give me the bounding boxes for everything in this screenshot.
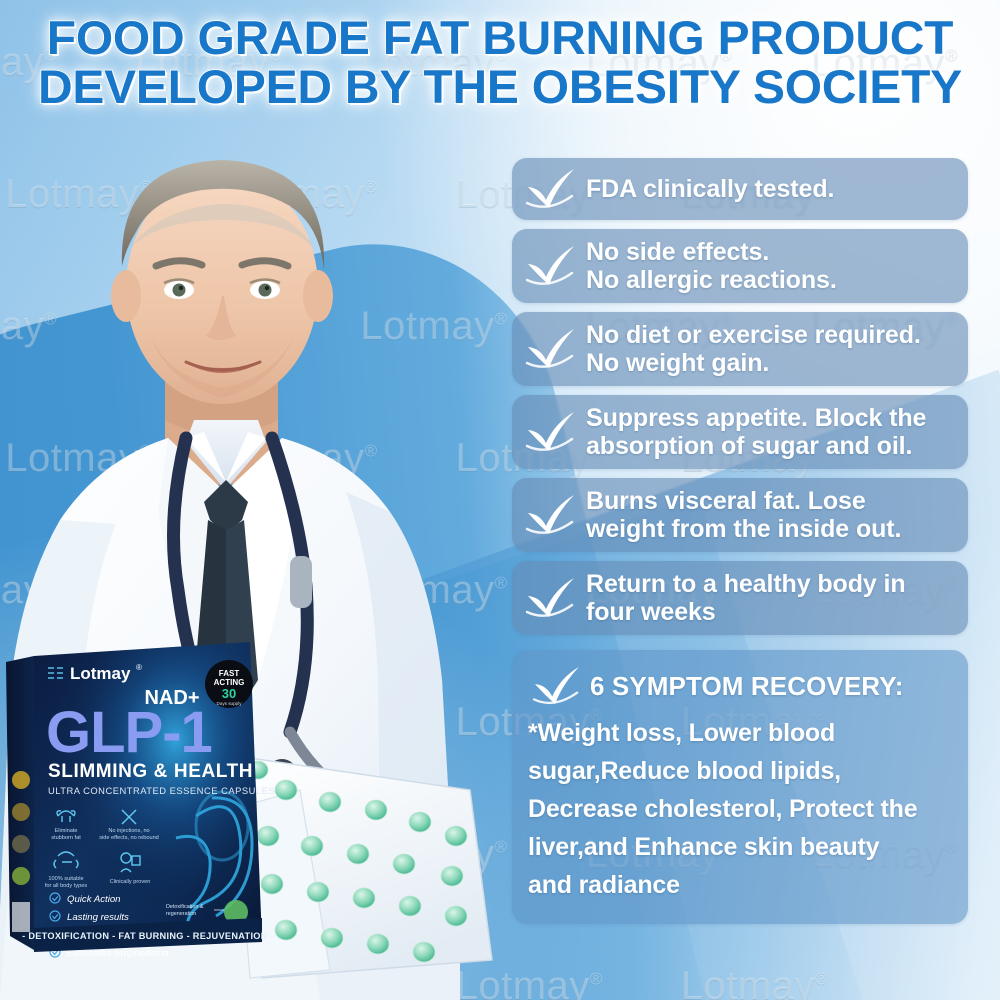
feature-panel: No side effects. No allergic reactions.	[512, 229, 968, 303]
feature-panel: Return to a healthy body in four weeks	[512, 561, 968, 635]
feature-panel-list: FDA clinically tested. No side effects. …	[512, 158, 968, 924]
feature-text: Burns visceral fat. Lose weight from the…	[586, 487, 901, 543]
recovery-line: and radiance	[528, 866, 952, 904]
recovery-body: *Weight loss, Lower blood sugar,Reduce b…	[528, 714, 952, 904]
symptom-recovery-panel: 6 SYMPTOM RECOVERY: *Weight loss, Lower …	[512, 650, 968, 924]
feature-panel: Suppress appetite. Block the absorption …	[512, 395, 968, 469]
recovery-title: 6 SYMPTOM RECOVERY:	[590, 671, 903, 702]
recovery-header: 6 SYMPTOM RECOVERY:	[528, 664, 952, 708]
recovery-line: *Weight loss, Lower blood	[528, 714, 952, 752]
feature-panel: No diet or exercise required. No weight …	[512, 312, 968, 386]
feature-text: Suppress appetite. Block the absorption …	[586, 404, 926, 460]
fast-acting-badge: FAST ACTING 30 Days supply	[205, 660, 253, 708]
feature-text: FDA clinically tested.	[586, 175, 834, 203]
feature-text: No side effects. No allergic reactions.	[586, 238, 837, 294]
feature-panel: FDA clinically tested.	[512, 158, 968, 220]
watermark-text: Lotmay®	[681, 964, 828, 1000]
checkmark-icon	[522, 326, 580, 372]
advertisement-canvas: FAST ACTING 30 Days supply Lotmay ® NAD+…	[0, 0, 1000, 1000]
recovery-line: sugar,Reduce blood lipids,	[528, 752, 952, 790]
recovery-line: liver,and Enhance skin beauty	[528, 828, 952, 866]
checkmark-icon	[522, 166, 580, 212]
checkmark-icon	[522, 575, 580, 621]
headline-line-1: FOOD GRADE FAT BURNING PRODUCT	[0, 14, 1000, 63]
feature-text: No diet or exercise required. No weight …	[586, 321, 921, 377]
blister-pack	[235, 758, 492, 978]
feature-text: Return to a healthy body in four weeks	[586, 570, 906, 626]
feature-panel: Burns visceral fat. Lose weight from the…	[512, 478, 968, 552]
checkmark-icon	[522, 492, 580, 538]
recovery-line: Decrease cholesterol, Protect the	[528, 790, 952, 828]
page-title: FOOD GRADE FAT BURNING PRODUCT DEVELOPED…	[0, 14, 1000, 112]
checkmark-icon	[522, 409, 580, 455]
checkmark-icon	[522, 243, 580, 289]
checkmark-icon	[528, 664, 586, 708]
headline-line-2: DEVELOPED BY THE OBESITY SOCIETY	[0, 63, 1000, 112]
product-packaging: FAST ACTING 30 Days supply Lotmay ® NAD+…	[0, 640, 520, 1000]
